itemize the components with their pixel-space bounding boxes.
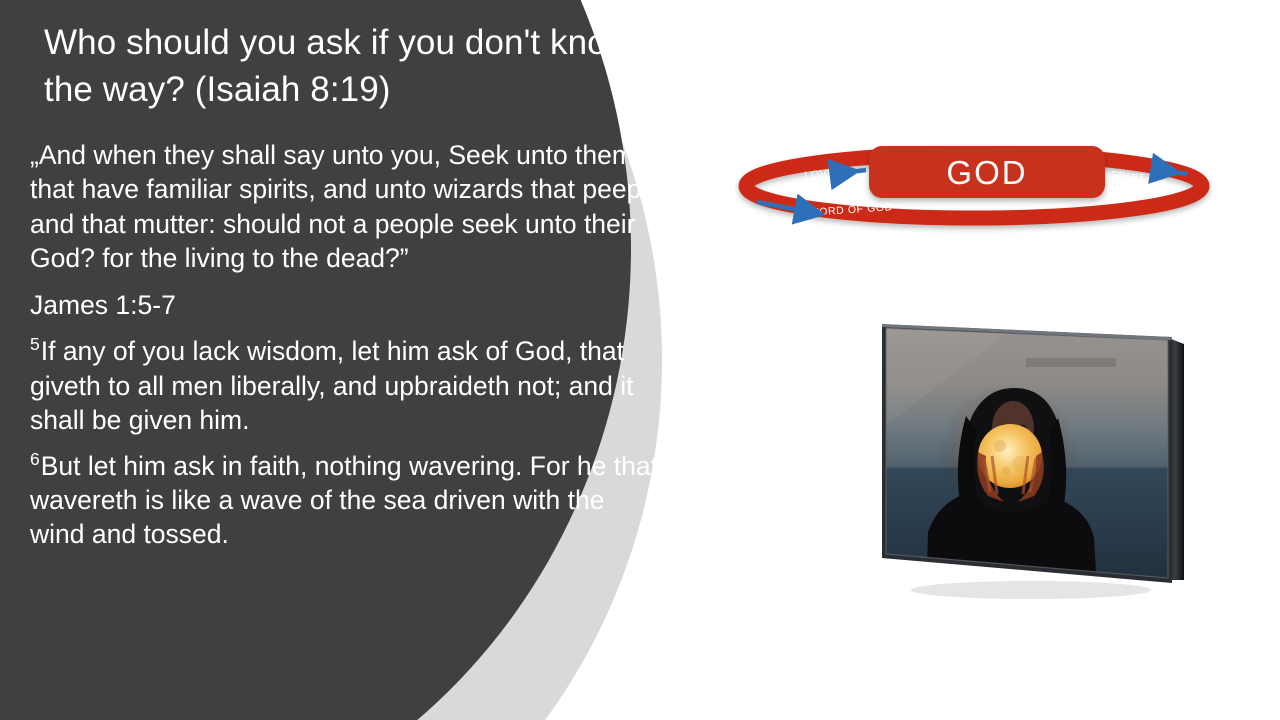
slide-canvas: Who should you ask if you don't know the… <box>0 0 1280 720</box>
verse-6-paragraph: 6But let him ask in faith, nothing waver… <box>30 449 660 552</box>
god-center-label: GOD <box>946 154 1027 191</box>
verse-5-number: 5 <box>30 334 41 354</box>
photo-moon-crater-3 <box>1002 467 1011 476</box>
verse-5-text: If any of you lack wisdom, let him ask o… <box>30 336 634 435</box>
framed-photo-monitor <box>866 306 1196 606</box>
verse-5-paragraph: 5If any of you lack wisdom, let him ask … <box>30 334 660 437</box>
verse-6-text: But let him ask in faith, nothing waveri… <box>30 451 658 550</box>
page-title: Who should you ask if you don't know the… <box>44 20 644 113</box>
monitor-shadow <box>911 581 1151 599</box>
photo-cloud-band <box>1026 358 1116 367</box>
scripture-reference-james: James 1:5-7 <box>30 288 660 322</box>
scripture-quote-isaiah: „And when they shall say unto you, Seek … <box>30 138 660 276</box>
love-arrow-icon <box>834 170 866 174</box>
text-column: Who should you ask if you don't know the… <box>0 0 672 720</box>
body-content: „And when they shall say unto you, Seek … <box>30 138 660 563</box>
god-ring-diagram: GOD LOVE FRUIT WORD OF GOD <box>735 132 1213 244</box>
diagram-label-fruit: FRUIT <box>1111 169 1146 184</box>
photo-cloud-band-2 <box>1056 404 1116 410</box>
diagram-label-love: LOVE <box>804 167 836 182</box>
verse-6-number: 6 <box>30 449 41 469</box>
monitor-screen <box>866 306 1196 606</box>
photo-moon-crater-1 <box>994 440 1006 452</box>
